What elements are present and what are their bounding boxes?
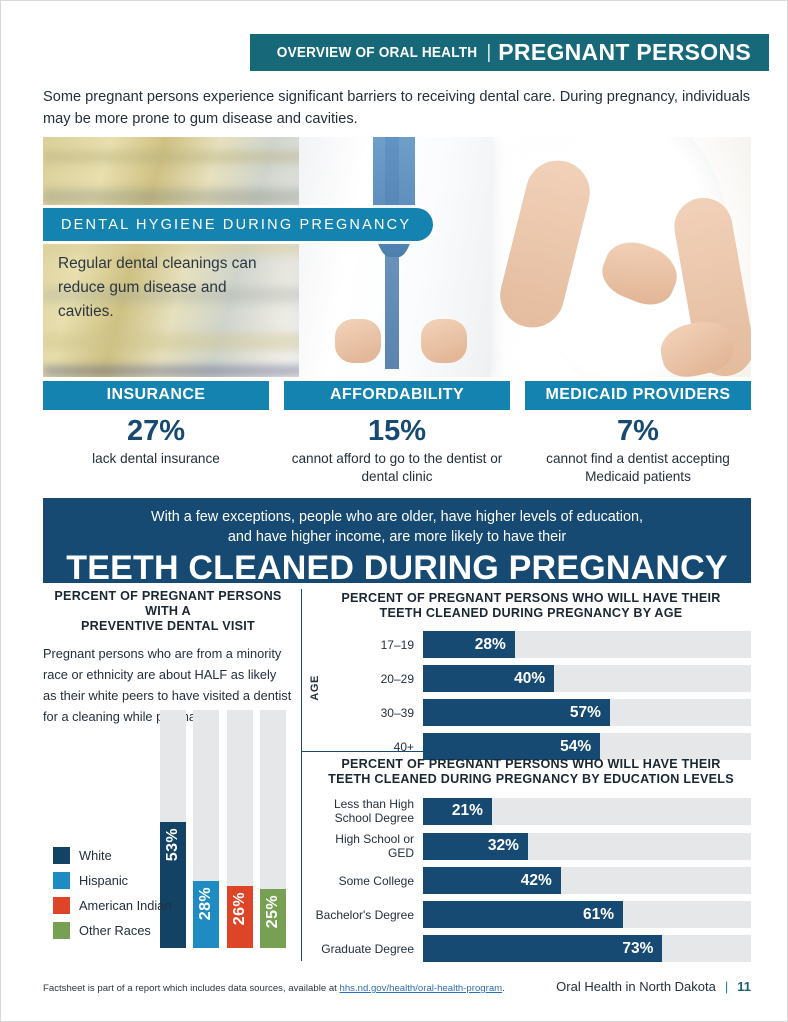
vertical-bar-track: 25% (260, 710, 286, 948)
footer-note-prefix: Factsheet is part of a report which incl… (43, 983, 340, 994)
footer-note: Factsheet is part of a report which incl… (43, 983, 505, 994)
footer-note-suffix: . (502, 983, 505, 994)
legend-label: American Indian (79, 898, 171, 913)
bar-fill: 28% (423, 631, 515, 658)
bar-track: 57% (423, 699, 751, 726)
bar-category-label: 40+ (311, 740, 423, 754)
chart-teeth-cleaned-by-age: PERCENT OF PREGNANT PERSONS WHO WILL HAV… (311, 591, 751, 767)
legend-swatch-icon (53, 872, 70, 889)
bar-value: 73% (622, 940, 653, 958)
legend-item-other-races: Other Races (53, 922, 171, 939)
vertical-bar-group: 53% 28% 26% 25% (160, 710, 286, 948)
bar-value: 57% (570, 704, 601, 722)
chart-legend: White Hispanic American Indian Other Rac… (53, 847, 171, 947)
bar-track: 40% (423, 665, 751, 692)
page-footer: Factsheet is part of a report which incl… (43, 979, 751, 994)
photo-shelf (43, 333, 312, 351)
stat-card-description: lack dental insurance (43, 450, 269, 468)
vertical-bar-american-indian: 26% (227, 886, 253, 948)
chart-title-line-2: TEETH CLEANED DURING PREGNANCY BY EDUCAT… (311, 772, 751, 787)
bar-fill: 61% (423, 901, 623, 928)
chart-teeth-cleaned-by-education: PERCENT OF PREGNANT PERSONS WHO WILL HAV… (311, 757, 751, 969)
stat-card-value: 27% (43, 414, 269, 448)
bar-fill: 42% (423, 867, 561, 894)
factsheet-page: OVERVIEW OF ORAL HEALTH | PREGNANT PERSO… (0, 0, 788, 1022)
chart-preventive-dental-visit: PERCENT OF PREGNANT PERSONS WITH A PREVE… (43, 589, 293, 961)
legend-item-american-indian: American Indian (53, 897, 171, 914)
bar-category-label: High School or GED (311, 832, 423, 860)
bar-track: 61% (423, 901, 751, 928)
bar-track: 28% (423, 631, 751, 658)
bar-category-label: Less than High School Degree (311, 797, 423, 825)
photo-shelf (43, 189, 312, 205)
bar-value: 61% (583, 906, 614, 924)
photo-shelf (43, 365, 312, 377)
chart-title-line-2: TEETH CLEANED DURING PREGNANCY BY AGE (311, 606, 751, 621)
coat-opening (385, 137, 399, 369)
page-title: PREGNANT PERSONS (498, 39, 751, 66)
stat-card-heading: INSURANCE (43, 381, 269, 410)
legend-label: White (79, 848, 112, 863)
bar-fill: 57% (423, 699, 610, 726)
photo-badge: DENTAL HYGIENE DURING PREGNANCY (43, 208, 433, 241)
chart-title-line-2: PREVENTIVE DENTAL VISIT (43, 619, 293, 634)
page-header-banner: OVERVIEW OF ORAL HEALTH | PREGNANT PERSO… (250, 34, 769, 71)
bar-category-label: 17–19 (311, 638, 423, 652)
table-row: Bachelor's Degree 61% (311, 901, 751, 928)
intro-paragraph: Some pregnant persons experience signifi… (43, 86, 751, 130)
bar-fill: 73% (423, 935, 662, 962)
bar-value: 54% (560, 738, 591, 756)
bar-category-label: Some College (311, 874, 423, 888)
bar-category-label: 20–29 (311, 672, 423, 686)
stat-card-value: 15% (284, 414, 510, 448)
vertical-divider (301, 589, 302, 961)
bar-fill: 21% (423, 798, 492, 825)
footer-divider: | (725, 979, 728, 994)
stat-card-description: cannot find a dentist accepting Medicaid… (525, 450, 751, 486)
photo-shelf (43, 151, 312, 163)
bar-track: 32% (423, 833, 751, 860)
legend-swatch-icon (53, 847, 70, 864)
age-bar-rows: AGE 17–19 28% 20–29 40% (311, 631, 751, 760)
stat-card-heading: AFFORDABILITY (284, 381, 510, 410)
footer-source-link[interactable]: hhs.nd.gov/health/oral-health-program (340, 983, 503, 994)
table-row: Some College 42% (311, 867, 751, 894)
bar-track: 73% (423, 935, 751, 962)
vertical-bar-other-races: 25% (260, 889, 286, 949)
legend-swatch-icon (53, 897, 70, 914)
legend-item-hispanic: Hispanic (53, 872, 171, 889)
chart-title-line-1: PERCENT OF PREGNANT PERSONS WHO WILL HAV… (311, 591, 751, 606)
bar-category-label: 30–39 (311, 706, 423, 720)
footer-right: Oral Health in North Dakota | 11 (556, 979, 751, 994)
table-row: 17–19 28% (311, 631, 751, 658)
stat-card-affordability: AFFORDABILITY 15% cannot afford to go to… (284, 381, 510, 486)
header-separator: | (486, 42, 491, 64)
charts-area: PERCENT OF PREGNANT PERSONS WITH A PREVE… (43, 589, 751, 961)
bar-value: 32% (488, 837, 519, 855)
chart-title-line-1: PERCENT OF PREGNANT PERSONS WHO WILL HAV… (311, 757, 751, 772)
table-row: 30–39 57% (311, 699, 751, 726)
bar-value: 40% (514, 670, 545, 688)
stat-card-description: cannot afford to go to the dentist or de… (284, 450, 510, 486)
education-bar-rows: Less than High School Degree 21% High Sc… (311, 797, 751, 962)
photo-caption: Regular dental cleanings can reduce gum … (58, 252, 268, 324)
bar-value: 28% (475, 636, 506, 654)
hand-figure (421, 319, 467, 363)
bar-track: 42% (423, 867, 751, 894)
banner-subtitle-line-2: and have higher income, are more likely … (43, 527, 751, 547)
table-row: Graduate Degree 73% (311, 935, 751, 962)
vertical-bar-track: 26% (227, 710, 253, 948)
bar-fill: 32% (423, 833, 528, 860)
table-row: 40+ 54% (311, 733, 751, 760)
bar-value: 21% (452, 802, 483, 820)
bar-category-label: Graduate Degree (311, 942, 423, 956)
bar-track: 21% (423, 798, 751, 825)
photo-badge-label: DENTAL HYGIENE DURING PREGNANCY (61, 217, 411, 233)
banner-title: TEETH CLEANED DURING PREGNANCY (43, 549, 751, 587)
y-axis-label: AGE (309, 675, 321, 701)
stat-card-value: 7% (525, 414, 751, 448)
vertical-bar-value: 25% (264, 895, 282, 928)
bar-category-line: Less than High (334, 797, 414, 811)
legend-label: Hispanic (79, 873, 128, 888)
vertical-bar-value: 28% (197, 887, 215, 920)
legend-label: Other Races (79, 923, 151, 938)
chart-title-line-1: PERCENT OF PREGNANT PERSONS WITH A (43, 589, 293, 619)
hero-photo: DENTAL HYGIENE DURING PREGNANCY Regular … (43, 137, 751, 377)
page-number: 11 (737, 979, 751, 994)
banner-subtitle-line-1: With a few exceptions, people who are ol… (43, 507, 751, 527)
bar-fill: 40% (423, 665, 554, 692)
legend-item-white: White (53, 847, 171, 864)
stat-card-group: INSURANCE 27% lack dental insurance AFFO… (43, 381, 751, 486)
table-row: Less than High School Degree 21% (311, 797, 751, 825)
vertical-bar-track: 28% (193, 710, 219, 948)
stat-card-insurance: INSURANCE 27% lack dental insurance (43, 381, 269, 486)
bar-category-label: Bachelor's Degree (311, 908, 423, 922)
legend-swatch-icon (53, 922, 70, 939)
header-eyebrow: OVERVIEW OF ORAL HEALTH (277, 45, 477, 61)
vertical-bar-value: 26% (231, 892, 249, 925)
section-banner: With a few exceptions, people who are ol… (43, 498, 751, 583)
bar-fill: 54% (423, 733, 600, 760)
bar-value: 42% (521, 872, 552, 890)
vertical-bar-hispanic: 28% (193, 881, 219, 948)
stat-card-heading: MEDICAID PROVIDERS (525, 381, 751, 410)
bar-category-line: School Degree (335, 811, 414, 825)
table-row: 20–29 40% (311, 665, 751, 692)
footer-report-title: Oral Health in North Dakota (556, 979, 716, 994)
stat-card-medicaid-providers: MEDICAID PROVIDERS 7% cannot find a dent… (525, 381, 751, 486)
hand-figure (335, 319, 381, 363)
table-row: High School or GED 32% (311, 832, 751, 860)
bar-track: 54% (423, 733, 751, 760)
